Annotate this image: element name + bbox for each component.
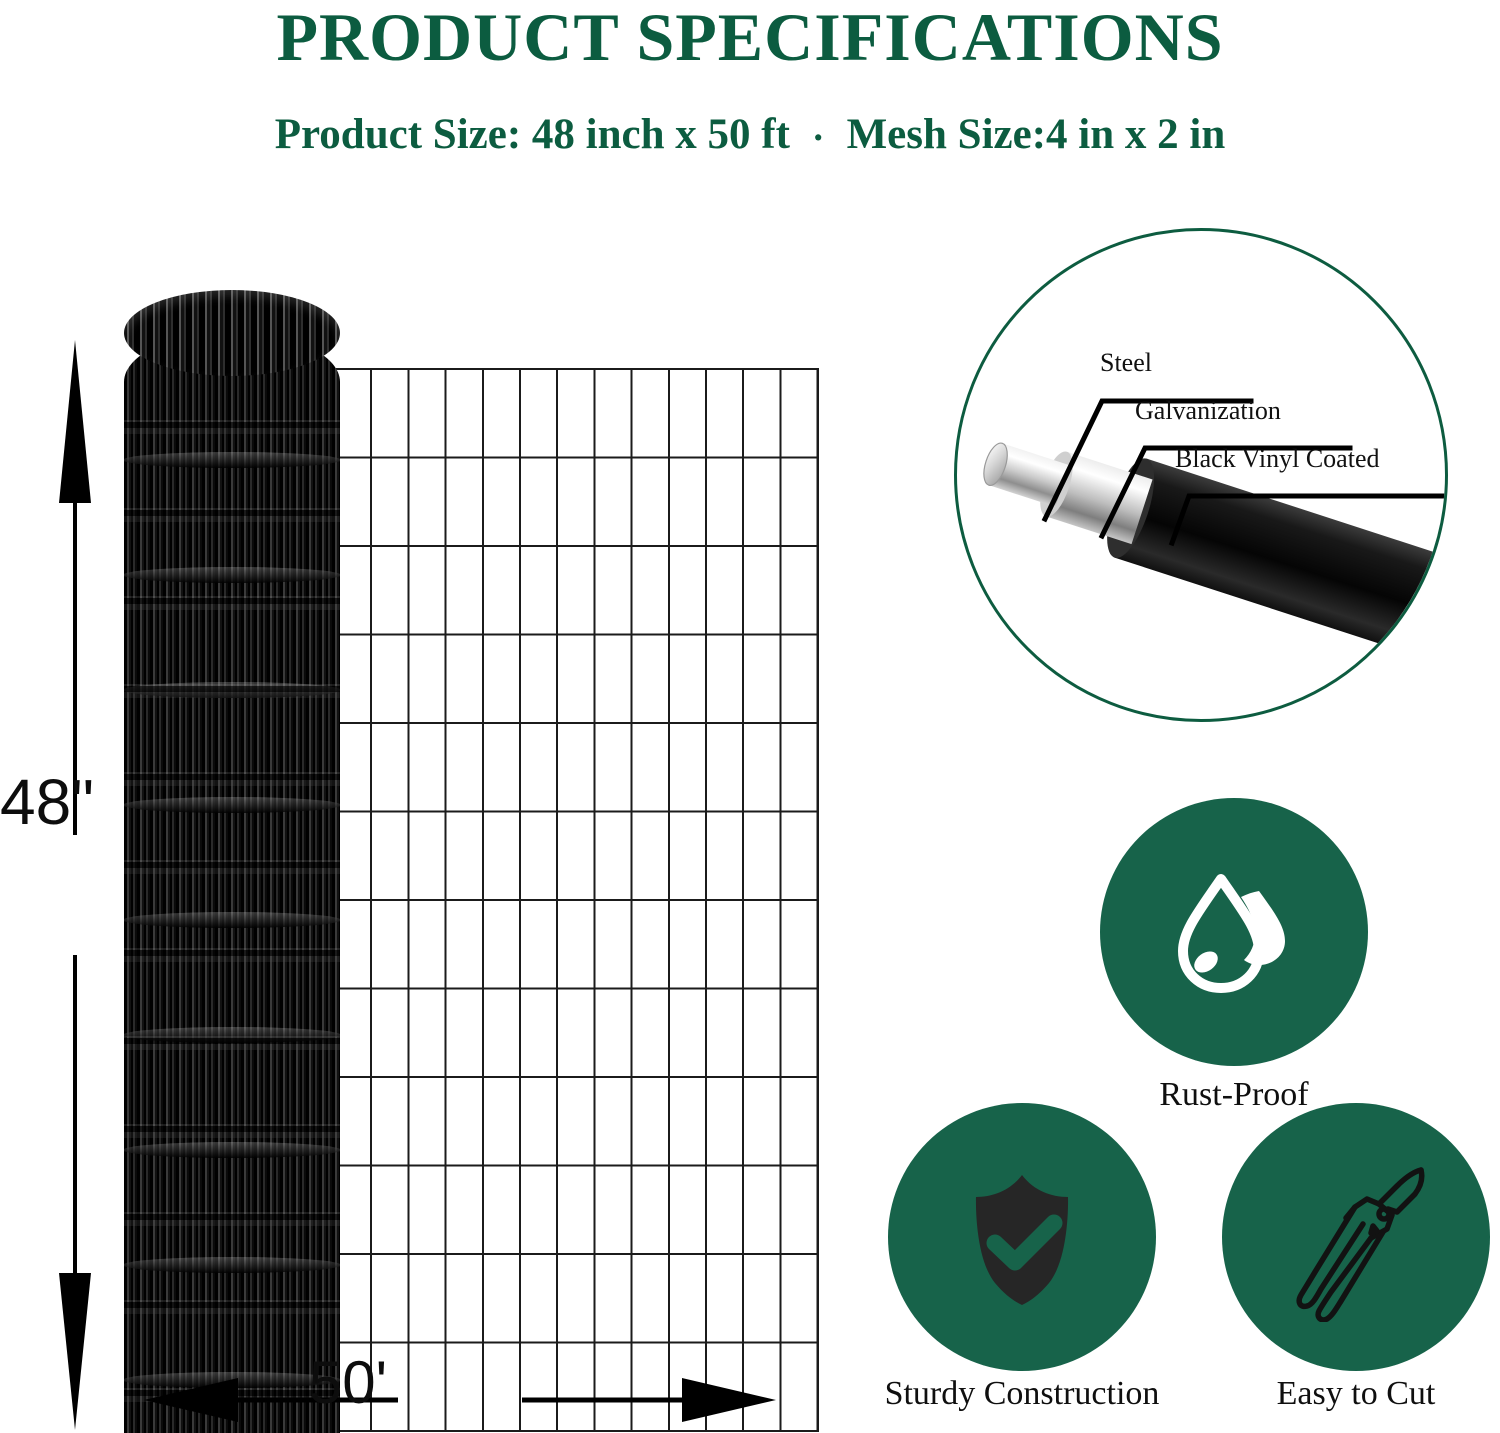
callout-label-black-vinyl-coated: Black Vinyl Coated bbox=[1175, 444, 1379, 474]
page-title: PRODUCT SPECIFICATIONS bbox=[0, 2, 1500, 73]
width-dimension-label: 50' bbox=[268, 1348, 428, 1417]
badge-circle-easy-to-cut bbox=[1222, 1103, 1490, 1371]
badge-circle-rust-proof bbox=[1100, 798, 1368, 1066]
feature-label-sturdy-construction: Sturdy Construction bbox=[885, 1375, 1160, 1413]
wire-mesh-roll bbox=[124, 290, 340, 1433]
mesh-size-text: Mesh Size:4 in x 2 in bbox=[847, 111, 1226, 158]
callout-label-steel: Steel bbox=[1100, 348, 1152, 378]
subtitle-separator-dot: · bbox=[790, 116, 847, 160]
feature-badge-rust-proof: Rust-Proof bbox=[1100, 798, 1368, 1066]
specs-subtitle: Product Size: 48 inch x 50 ft·Mesh Size:… bbox=[0, 110, 1500, 160]
feature-label-easy-to-cut: Easy to Cut bbox=[1277, 1375, 1436, 1413]
product-size-text: Product Size: 48 inch x 50 ft bbox=[275, 111, 790, 158]
mesh-grid-panel bbox=[333, 368, 819, 1432]
wire-construction-callout bbox=[954, 228, 1448, 722]
callout-label-galvanization: Galvanization bbox=[1135, 396, 1281, 426]
roll-body bbox=[124, 332, 340, 1433]
product-specification-infographic: PRODUCT SPECIFICATIONS Product Size: 48 … bbox=[0, 0, 1500, 1433]
roll-top-ellipse bbox=[124, 290, 340, 376]
water-drop-icon bbox=[1159, 857, 1309, 1007]
wire-cross-section-diagram bbox=[957, 231, 1445, 719]
feature-badge-sturdy-construction: Sturdy Construction bbox=[888, 1103, 1156, 1371]
pliers-icon bbox=[1271, 1152, 1441, 1322]
shield-check-icon bbox=[946, 1161, 1098, 1313]
badge-circle-sturdy-construction bbox=[888, 1103, 1156, 1371]
feature-badge-easy-to-cut: Easy to Cut bbox=[1222, 1103, 1490, 1371]
product-illustration: 48" bbox=[0, 200, 880, 1433]
height-dimension-label: 48" bbox=[0, 765, 125, 839]
width-dimension-arrow bbox=[140, 1352, 780, 1433]
